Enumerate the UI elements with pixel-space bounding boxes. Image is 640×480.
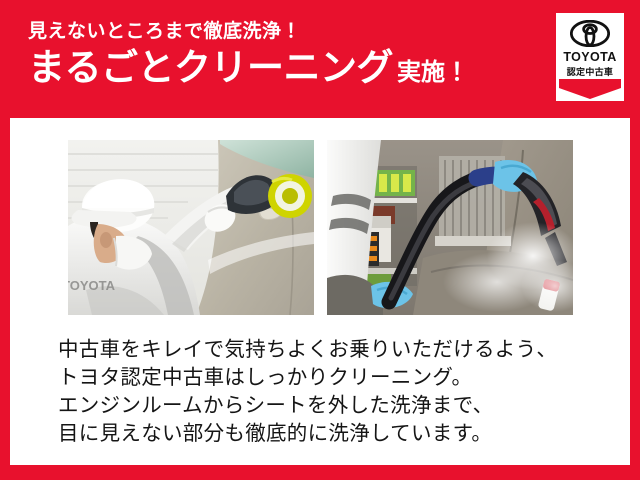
body-copy: 中古車をキレイで気持ちよくお乗りいただけるよう、 トヨタ認定中古車はしっかりクリ… (58, 336, 603, 448)
body-line-2: トヨタ認定中古車はしっかりクリーニング。 (58, 364, 603, 392)
body-line-1: 中古車をキレイで気持ちよくお乗りいただけるよう、 (58, 336, 603, 364)
header-headline-main: まるごとクリーニング (28, 49, 393, 88)
header-headline-suffix: 実施！ (397, 60, 469, 85)
badge-inner: TOYOTA 認定中古車 (556, 13, 624, 101)
svg-text:TOYOTA: TOYOTA (68, 278, 116, 293)
body-line-3: エンジンルームからシートを外した洗浄まで、 (58, 392, 603, 420)
header-text-block: 見えないところまで徹底洗浄！ まるごとクリーニング 実施！ (28, 22, 548, 88)
header-headline-row: まるごとクリーニング 実施！ (28, 49, 548, 88)
body-line-4: 目に見えない部分も徹底的に洗浄しています。 (58, 420, 603, 448)
toyota-certified-badge: TOYOTA 認定中古車 (556, 13, 624, 101)
content-panel: TOYOTA (10, 118, 630, 465)
photo-steam-cleaning (327, 140, 573, 315)
badge-wordmark: TOYOTA (556, 50, 624, 64)
badge-subtitle: 認定中古車 (556, 65, 624, 78)
badge-chevron-shape (559, 79, 621, 99)
toyota-cleaning-banner: 見えないところまで徹底洗浄！ まるごとクリーニング 実施！ TOYOTA 認定中… (0, 0, 640, 480)
banner-header: 見えないところまで徹底洗浄！ まるごとクリーニング 実施！ TOYOTA 認定中… (0, 0, 640, 113)
photo-exterior-polishing: TOYOTA (68, 140, 314, 315)
header-lead-text: 見えないところまで徹底洗浄！ (28, 22, 548, 43)
toyota-emblem-icon (570, 20, 610, 47)
